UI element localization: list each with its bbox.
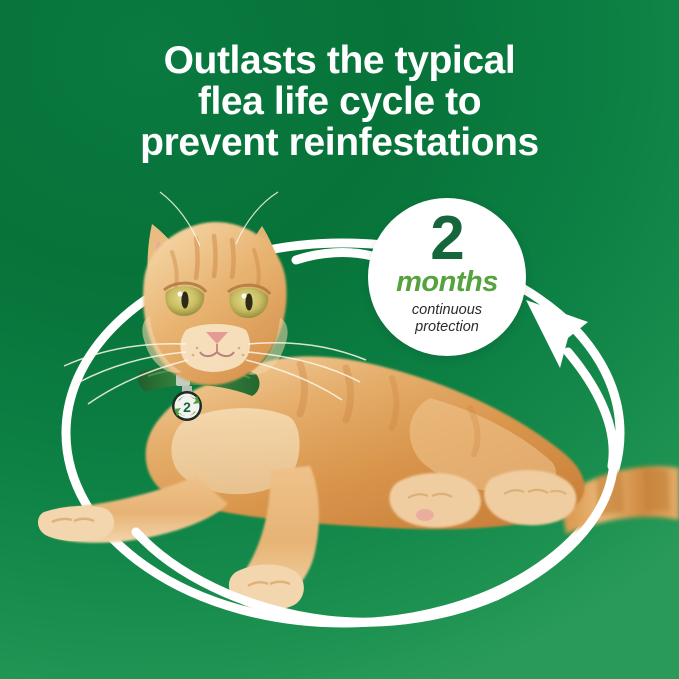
arc-bottom [136,532,496,622]
arc-front-layer [0,0,679,679]
badge-subtext: continuous protection [412,302,482,336]
arrowhead-icon [526,300,588,368]
badge-subtext-line-1: continuous [412,302,482,319]
duration-badge: 2 months continuous protection [368,198,526,356]
badge-subtext-line-2: protection [412,319,482,336]
badge-number: 2 [430,212,463,267]
advertisement-image: Outlasts the typical flea life cycle to … [0,0,679,679]
arc-lower-right [496,470,613,596]
arc-to-arrowhead [568,352,613,466]
arc-stub-to-badge [296,253,372,260]
badge-unit: months [396,268,498,297]
